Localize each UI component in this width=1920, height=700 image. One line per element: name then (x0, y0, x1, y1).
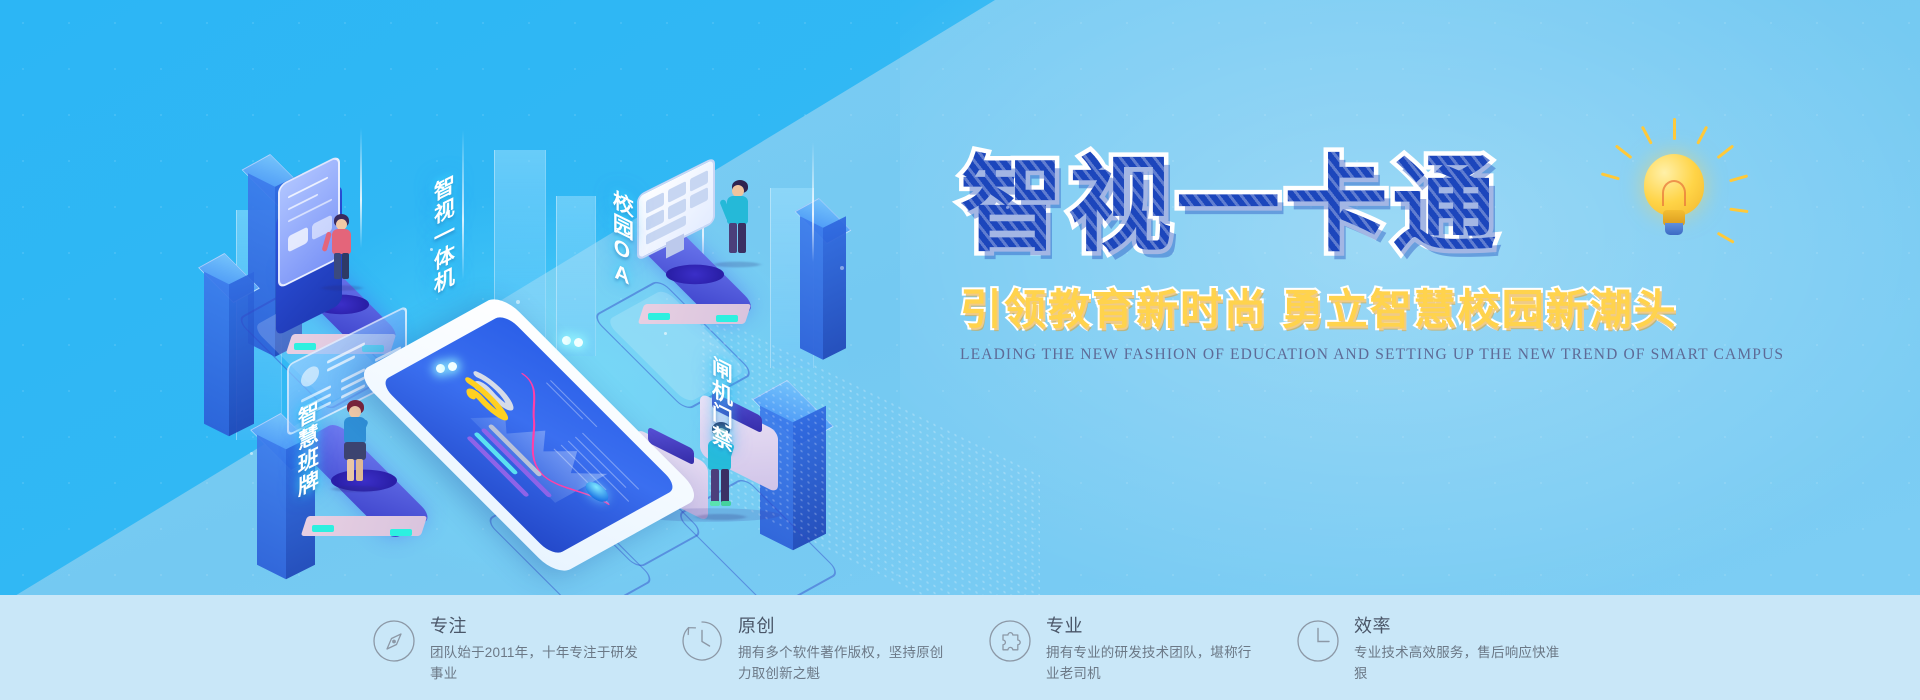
hero-banner: 智视一体机 校园OA (0, 0, 1920, 700)
page-title: 智视一卡通 (960, 150, 1720, 262)
puzzle-icon (988, 619, 1032, 663)
feature-title: 效率 (1354, 612, 1570, 638)
feature-text: 原创 拥有多个软件著作版权，坚持原创力取创新之魁 (738, 610, 954, 685)
english-tagline: LEADING THE NEW FASHION OF EDUCATION AND… (960, 346, 1720, 364)
feature-description: 专业技术高效服务，售后响应快准狠 (1354, 643, 1570, 685)
feature-text: 效率 专业技术高效服务，售后响应快准狠 (1354, 610, 1570, 685)
feature-description: 拥有多个软件著作版权，坚持原创力取创新之魁 (738, 643, 954, 685)
feature-title: 专业 (1046, 612, 1262, 638)
feature-text: 专注 团队始于2011年，十年专注于研发事业 (430, 610, 646, 685)
feature-item-focus[interactable]: 专注 团队始于2011年，十年专注于研发事业 (372, 610, 680, 685)
feature-item-professional[interactable]: 专业 拥有专业的研发技术团队，堪称行业老司机 (988, 610, 1296, 685)
feature-title: 原创 (738, 612, 954, 638)
feature-bar: 专注 团队始于2011年，十年专注于研发事业 原创 拥有多个软件著作版权，坚持原… (0, 595, 1920, 700)
feature-title: 专注 (430, 612, 646, 638)
clock-icon (1296, 619, 1340, 663)
feature-item-efficiency[interactable]: 效率 专业技术高效服务，售后响应快准狠 (1296, 610, 1604, 685)
page-subtitle: 引领教育新时尚 勇立智慧校园新潮头 (960, 276, 1720, 337)
compass-icon (372, 619, 416, 663)
feature-description: 拥有专业的研发技术团队，堪称行业老司机 (1046, 643, 1262, 685)
headline-block: 智视一卡通 智视一卡通 引领教育新时尚 勇立智慧校园新潮头 LEADING TH… (960, 150, 1720, 364)
feature-item-original[interactable]: 原创 拥有多个软件著作版权，坚持原创力取创新之魁 (680, 610, 988, 685)
feature-description: 团队始于2011年，十年专注于研发事业 (430, 643, 646, 685)
feature-text: 专业 拥有专业的研发技术团队，堪称行业老司机 (1046, 610, 1262, 685)
clock-rotate-icon (680, 619, 724, 663)
